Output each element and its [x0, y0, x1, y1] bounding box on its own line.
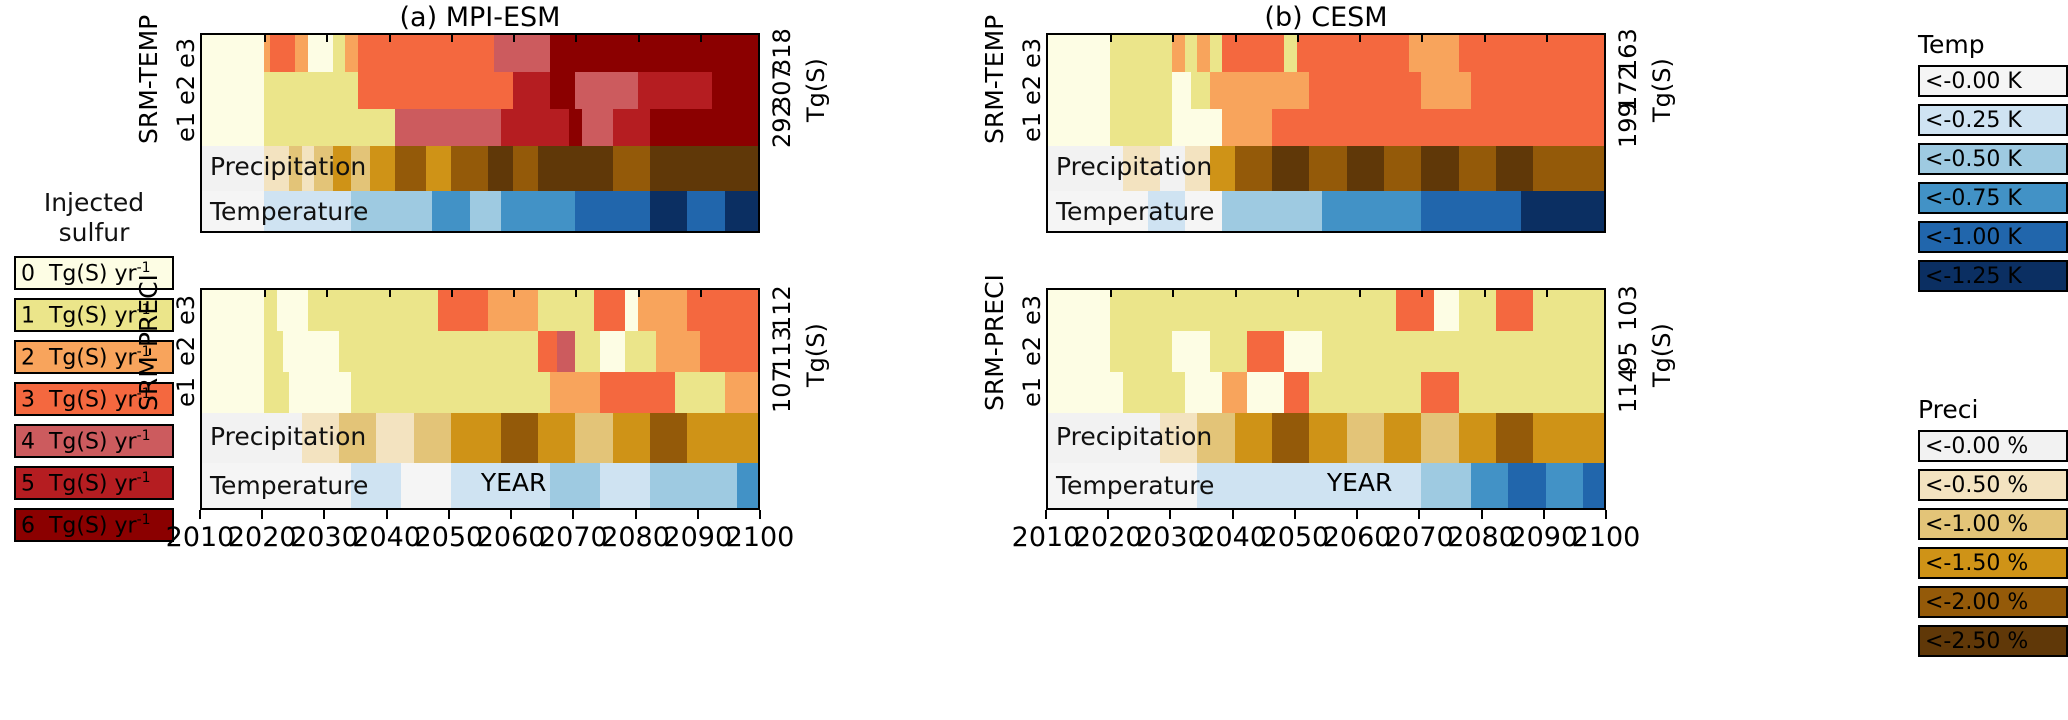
mpi-srm-temp-temp-cell [432, 191, 469, 234]
cesm-srm-temp-sulfur-cell [1048, 109, 1110, 146]
mpi-srm-temp-temp-cell [314, 191, 351, 234]
preci-swatch-5: <-2.50 % [1918, 625, 2068, 657]
cesm-srm-temp-top-tick [1172, 35, 1174, 42]
mpi-srm-temp-sulfur-row-e2 [202, 72, 758, 109]
cesm-srm-preci-precip-cell [1459, 413, 1496, 462]
mpi-srm-temp-sulfur-cell [270, 35, 295, 72]
mpi-srm-temp-sulfur-cell [264, 72, 332, 109]
mpi-x-tick-label: 2030 [290, 522, 359, 553]
mpi-srm-preci-right-unit: Tg(S) [802, 323, 830, 387]
mpi-srm-preci-sulfur-cell [600, 372, 637, 413]
mpi-srm-preci-temp-cell [401, 463, 451, 510]
mpi-srm-temp-sulfur-cell [345, 109, 395, 146]
mpi-srm-preci-precip-cell [414, 413, 451, 462]
cesm-srm-temp-sulfur-cell [1272, 109, 1334, 146]
cesm-year-inline-label: YEAR [1327, 468, 1393, 497]
mpi-srm-preci-sulfur-cell [283, 331, 339, 372]
cesm-srm-preci-temp-cell [1048, 463, 1197, 510]
cesm-srm-temp-top-tick [1484, 35, 1486, 42]
mpi-x-tick [448, 510, 450, 519]
mpi-srm-preci-temp-cell [600, 463, 650, 510]
mpi-panel-title: (a) MPI-ESM [200, 2, 760, 33]
mpi-srm-temp-sulfur-cell [550, 35, 575, 72]
mpi-srm-preci-sulfur-cell [264, 331, 283, 372]
mpi-srm-temp-temp-cell [538, 191, 575, 234]
mpi-srm-temp-sulfur-cell [358, 72, 389, 109]
cesm-x-tick [1481, 510, 1483, 519]
mpi-srm-temp-precipitation-band: Precipitation [202, 146, 758, 191]
cesm-srm-preci-top-tick [1297, 290, 1299, 297]
cesm-srm-preci-precip-cell [1197, 413, 1234, 462]
mpi-srm-temp-sulfur-cell [457, 109, 501, 146]
cesm-srm-preci-sulfur-cell [1123, 372, 1185, 413]
cesm-x-tick-label: 2050 [1261, 522, 1330, 553]
cesm-srm-temp-temp-cell [1521, 191, 1558, 234]
cesm-srm-preci-sulfur-cell [1247, 372, 1284, 413]
mpi-srm-temp-ylabel: SRM-TEMP [134, 15, 163, 144]
sulfur-swatch-label: 2 Tg(S) yr-1 [16, 344, 151, 370]
mpi-srm-temp-sulfur-cell [550, 109, 569, 146]
mpi-srm-preci-sulfur-cell [625, 290, 637, 331]
mpi-year-inline-label: YEAR [481, 468, 547, 497]
mpi-srm-temp-sulfur-cell [569, 109, 581, 146]
mpi-srm-preci-top-tick [264, 290, 266, 297]
mpi-srm-preci-sulfur-cell [538, 331, 557, 372]
mpi-srm-preci-sulfur-row-e1 [202, 372, 758, 413]
cesm-srm-temp-precip-cell [1123, 146, 1160, 191]
cesm-srm-temp-sulfur-cell [1272, 72, 1309, 109]
mpi-srm-preci-sulfur-cell [594, 290, 625, 331]
cesm-srm-temp-sulfur-cell [1297, 35, 1347, 72]
mpi-srm-preci-sulfur-row-e2 [202, 331, 758, 372]
mpi-srm-temp-sulfur-cell [600, 72, 637, 109]
cesm-srm-preci-precip-cell [1533, 413, 1570, 462]
mpi-srm-preci-sulfur-cell [675, 372, 725, 413]
cesm-srm-preci-sulfur-cell [1222, 372, 1247, 413]
cesm-srm-temp-precip-cell [1533, 146, 1570, 191]
cesm-srm-temp-precip-cell [1459, 146, 1496, 191]
mpi-x-tick [572, 510, 574, 519]
mpi-x-tick-label: 2010 [166, 522, 235, 553]
cesm-srm-preci-sulfur-cell [1459, 290, 1496, 331]
cesm-srm-temp-sulfur-cell [1471, 72, 1604, 109]
mpi-srm-preci-precip-cell [687, 413, 724, 462]
cesm-srm-temp-precip-cell [1210, 146, 1235, 191]
cesm-srm-temp-sulfur-cell [1191, 72, 1210, 109]
cesm-srm-temp-sulfur-row-e1 [1048, 109, 1604, 146]
cesm-srm-temp-temp-cell [1372, 191, 1422, 234]
cesm-srm-preci-precip-cell [1347, 413, 1384, 462]
mpi-x-tick [510, 510, 512, 519]
cesm-x-tick-label: 2090 [1509, 522, 1578, 553]
cesm-srm-preci-precipitation-band: Precipitation [1048, 413, 1604, 462]
mpi-srm-preci-ensemble-label-e3: e3 [172, 294, 200, 324]
cesm-x-tick [1418, 510, 1420, 519]
mpi-srm-temp-sulfur-cell [650, 35, 758, 72]
mpi-srm-temp-sulfur-cell [333, 72, 358, 109]
mpi-srm-preci-top-tick [575, 290, 577, 297]
cesm-srm-temp-temp-cell [1048, 191, 1148, 234]
cesm-srm-preci-temp-cell [1508, 463, 1545, 510]
mpi-srm-temp-sulfur-cell [395, 109, 457, 146]
mpi-srm-preci-top-tick [513, 290, 515, 297]
cesm-x-tick-label: 2060 [1323, 522, 1392, 553]
preci-swatch-label: <-2.50 % [1920, 629, 2028, 654]
cesm-srm-preci-sulfur-cell [1110, 331, 1172, 372]
cesm-srm-preci-precip-cell [1309, 413, 1346, 462]
cesm-srm-preci-top-tick [1484, 290, 1486, 297]
sulfur-swatch-5: 5 Tg(S) yr-1 [14, 466, 174, 500]
temp-swatch-label: <-1.25 K [1920, 264, 2022, 289]
temp-swatch-label: <-0.00 K [1920, 69, 2022, 94]
mpi-srm-preci-right-value-1: 113 [768, 326, 796, 372]
cesm-srm-temp-temp-cell [1421, 191, 1471, 234]
mpi-srm-temp-top-tick [326, 35, 328, 42]
mpi-srm-preci-sulfur-cell [308, 290, 364, 331]
sulfur-swatch-6: 6 Tg(S) yr-1 [14, 508, 174, 542]
mpi-srm-preci-sulfur-cell [575, 331, 600, 372]
cesm-srm-preci-precip-cell [1048, 413, 1160, 462]
cesm-srm-temp-top-tick [1110, 35, 1112, 42]
mpi-srm-temp-sulfur-cell [295, 35, 307, 72]
cesm-srm-temp-sulfur-cell [1048, 35, 1110, 72]
temp-swatch-list: <-0.00 K<-0.25 K<-0.50 K<-0.75 K<-1.00 K… [1918, 65, 2068, 292]
cesm-srm-temp-sulfur-cell [1172, 72, 1191, 109]
mpi-srm-temp-sulfur-cell [575, 72, 600, 109]
mpi-srm-preci-precip-cell [538, 413, 575, 462]
cesm-srm-preci-ensemble-label-e2: e2 [1018, 336, 1046, 366]
cesm-srm-preci-sulfur-cell [1210, 290, 1297, 331]
mpi-x-tick [323, 510, 325, 519]
cesm-srm-temp-sulfur-cell [1110, 109, 1172, 146]
mpi-srm-temp-sulfur-cell [395, 35, 495, 72]
mpi-srm-preci-sulfur-cell [202, 372, 264, 413]
mpi-srm-temp-sulfur-row-e3 [202, 35, 758, 72]
cesm-srm-preci-temp-cell [1421, 463, 1471, 510]
mpi-srm-preci-temp-cell [202, 463, 351, 510]
figure-canvas: Injected sulfur 0 Tg(S) yr-11 Tg(S) yr-1… [0, 0, 2068, 720]
cesm-srm-preci-sulfur-row-e3 [1048, 290, 1604, 331]
cesm-srm-temp-ensemble-label-e3: e3 [1018, 37, 1046, 67]
mpi-srm-preci-top-tick [700, 290, 702, 297]
mpi-x-tick [635, 510, 637, 519]
cesm-srm-temp-precip-cell [1235, 146, 1272, 191]
preci-swatch-label: <-0.00 % [1920, 434, 2028, 459]
cesm-srm-temp-top-tick [1421, 35, 1423, 42]
cesm-srm-temp-sulfur-cell [1459, 35, 1496, 72]
cesm-srm-temp-sulfur-cell [1496, 35, 1604, 72]
cesm-srm-temp-sulfur-cell [1110, 72, 1172, 109]
cesm-srm-preci-top-tick [1546, 290, 1548, 297]
cesm-x-tick [1356, 510, 1358, 519]
cesm-x-tick-label: 2100 [1572, 522, 1641, 553]
cesm-srm-temp-sulfur-cell [1496, 109, 1604, 146]
cesm-srm-preci-sulfur-cell [1048, 290, 1110, 331]
mpi-srm-temp-precip-cell [426, 146, 451, 191]
cesm-srm-preci-temp-cell [1235, 463, 1335, 510]
cesm-srm-preci-ensemble-label-e1: e1 [1018, 377, 1046, 407]
preci-legend-title: Preci [1918, 395, 2068, 424]
mpi-x-tick-label: 2070 [539, 522, 608, 553]
cesm-srm-preci-sulfur-cell [1110, 290, 1160, 331]
mpi-srm-temp-sulfur-cell [463, 72, 513, 109]
mpi-srm-preci-precip-cell [202, 413, 302, 462]
temp-swatch-0: <-0.00 K [1918, 65, 2068, 97]
cesm-srm-preci-sulfur-cell [1459, 372, 1604, 413]
mpi-srm-preci-top-tick [326, 290, 328, 297]
cesm-srm-temp-temp-cell [1222, 191, 1272, 234]
cesm-srm-preci-temp-cell [1546, 463, 1583, 510]
mpi-srm-preci-sulfur-cell [600, 331, 625, 372]
temp-swatch-4: <-1.00 K [1918, 221, 2068, 253]
cesm-srm-preci-sulfur-cell [1309, 372, 1421, 413]
mpi-srm-temp-precip-cell [370, 146, 395, 191]
sulfur-legend-title: Injected sulfur [14, 188, 174, 248]
sulfur-swatch-label: 4 Tg(S) yr-1 [16, 428, 151, 454]
mpi-srm-preci-temp-cell [550, 463, 600, 510]
preci-swatch-3: <-1.50 % [1918, 547, 2068, 579]
cesm-srm-temp-top-tick [1359, 35, 1361, 42]
temp-swatch-5: <-1.25 K [1918, 260, 2068, 292]
cesm-srm-temp-sulfur-cell [1309, 72, 1334, 109]
cesm-srm-temp-temp-cell [1322, 191, 1372, 234]
mpi-srm-temp-precip-cell [538, 146, 575, 191]
cesm-srm-preci-sulfur-cell [1185, 372, 1222, 413]
cesm-srm-preci-sulfur-cell [1533, 290, 1604, 331]
mpi-srm-temp-top-tick [638, 35, 640, 42]
sulfur-swatch-label: 1 Tg(S) yr-1 [16, 302, 151, 328]
mpi-srm-temp-sulfur-cell [494, 35, 525, 72]
mpi-srm-temp-top-tick [700, 35, 702, 42]
cesm-srm-preci-sulfur-cell [1048, 331, 1110, 372]
sulfur-swatch-label: 6 Tg(S) yr-1 [16, 512, 151, 538]
cesm-srm-temp-precip-cell [1496, 146, 1533, 191]
cesm-srm-preci-precip-cell [1421, 413, 1458, 462]
mpi-srm-temp-sulfur-cell [675, 72, 712, 109]
mpi-srm-temp-sulfur-cell [638, 72, 675, 109]
cesm-srm-temp-precip-cell [1421, 146, 1458, 191]
mpi-srm-temp-precip-cell [314, 146, 333, 191]
mpi-x-tick-label: 2050 [415, 522, 484, 553]
precipitation-colorbar-legend: Preci <-0.00 %<-0.50 %<-1.00 %<-1.50 %<-… [1918, 395, 2068, 664]
cesm-srm-temp-sulfur-cell [1409, 35, 1459, 72]
cesm-srm-preci-sulfur-row-e2 [1048, 331, 1604, 372]
cesm-x-tick [1294, 510, 1296, 519]
cesm-srm-temp-top-tick [1297, 35, 1299, 42]
cesm-srm-preci-sulfur-cell [1247, 331, 1284, 372]
mpi-srm-temp-temp-cell [650, 191, 687, 234]
mpi-srm-temp-temp-cell [613, 191, 650, 234]
mpi-srm-temp-precip-cell [333, 146, 352, 191]
preci-swatch-list: <-0.00 %<-0.50 %<-1.00 %<-1.50 %<-2.00 %… [1918, 430, 2068, 657]
preci-swatch-label: <-2.00 % [1920, 590, 2028, 615]
sulfur-legend-title-line2: sulfur [14, 218, 174, 248]
temp-swatch-label: <-0.50 K [1920, 147, 2022, 172]
mpi-srm-temp-temperature-band: Temperature [202, 191, 758, 234]
mpi-srm-temp-sulfur-cell [650, 109, 758, 146]
mpi-srm-preci-sulfur-cell [638, 290, 688, 331]
temp-swatch-label: <-0.25 K [1920, 108, 2022, 133]
preci-swatch-label: <-1.50 % [1920, 551, 2028, 576]
mpi-x-tick-label: 2060 [477, 522, 546, 553]
mpi-srm-preci-temp-cell [650, 463, 700, 510]
mpi-x-tick [759, 510, 761, 519]
mpi-srm-temp-sulfur-cell [308, 35, 333, 72]
cesm-x-tick [1045, 510, 1047, 519]
preci-swatch-2: <-1.00 % [1918, 508, 2068, 540]
mpi-srm-temp-ensemble-label-e2: e2 [172, 74, 200, 104]
mpi-srm-temp-sulfur-cell [575, 35, 612, 72]
cesm-srm-temp-precip-cell [1347, 146, 1384, 191]
mpi-srm-preci-top-tick [451, 290, 453, 297]
mpi-srm-temp-precip-cell [513, 146, 538, 191]
mpi-srm-preci-sulfur-cell [638, 372, 675, 413]
mpi-srm-temp-precip-cell [650, 146, 687, 191]
mpi-srm-temp-temp-cell [264, 191, 314, 234]
temperature-colorbar-legend: Temp <-0.00 K<-0.25 K<-0.50 K<-0.75 K<-1… [1918, 30, 2068, 299]
cesm-srm-temp-temp-cell [1185, 191, 1222, 234]
cesm-srm-preci-ylabel: SRM-PRECI [980, 274, 1009, 411]
mpi-srm-temp-temp-cell [351, 191, 388, 234]
cesm-srm-temp-sulfur-cell [1247, 35, 1284, 72]
mpi-srm-temp-sulfur-row-e1 [202, 109, 758, 146]
cesm-panel-title: (b) CESM [1046, 2, 1606, 33]
mpi-x-tick [386, 510, 388, 519]
cesm-srm-temp-precip-cell [1309, 146, 1346, 191]
mpi-srm-preci-sulfur-cell [557, 331, 576, 372]
mpi-srm-preci-top-tick [389, 290, 391, 297]
mpi-srm-preci-precipitation-band: Precipitation [202, 413, 758, 462]
mpi-srm-preci-precip-cell [575, 413, 612, 462]
temp-swatch-1: <-0.25 K [1918, 104, 2068, 136]
cesm-srm-preci-sulfur-cell [1421, 372, 1458, 413]
mpi-srm-preci-sulfur-cell [538, 290, 594, 331]
mpi-srm-temp-temp-cell [687, 191, 724, 234]
mpi-srm-temp-sulfur-cell [345, 35, 357, 72]
cesm-srm-preci-sulfur-cell [1396, 290, 1433, 331]
mpi-srm-preci-right-value-2: 107 [768, 367, 796, 413]
cesm-srm-temp-sulfur-cell [1210, 72, 1235, 109]
mpi-srm-temp-precip-cell [202, 146, 264, 191]
mpi-srm-preci-sulfur-cell [364, 290, 439, 331]
mpi-srm-preci-sulfur-cell [687, 290, 758, 331]
cesm-srm-temp-precip-cell [1384, 146, 1421, 191]
mpi-srm-temp-precip-cell [351, 146, 370, 191]
mpi-srm-temp-temp-cell [501, 191, 538, 234]
mpi-srm-preci-temp-cell [351, 463, 401, 510]
sulfur-legend-title-line1: Injected [14, 188, 174, 218]
mpi-srm-preci-sulfur-cell [351, 372, 550, 413]
cesm-srm-temp-sulfur-cell [1222, 109, 1272, 146]
cesm-srm-preci-temp-cell [1583, 463, 1604, 510]
cesm-srm-temp-precipitation-band: Precipitation [1048, 146, 1604, 191]
mpi-x-tick [697, 510, 699, 519]
sulfur-swatch-label: 5 Tg(S) yr-1 [16, 470, 151, 496]
cesm-srm-preci-right-value-0: 103 [1614, 285, 1642, 331]
mpi-srm-preci-ylabel: SRM-PRECI [134, 274, 163, 411]
mpi-srm-preci-sulfur-row-e3 [202, 290, 758, 331]
cesm-srm-preci-sulfur-row-e1 [1048, 372, 1604, 413]
cesm-srm-preci-precip-cell [1571, 413, 1604, 462]
mpi-srm-preci-sulfur-cell [202, 331, 264, 372]
mpi-srm-temp-sulfur-cell [613, 109, 650, 146]
mpi-srm-preci-precip-cell [376, 413, 413, 462]
mpi-srm-temp-precip-cell [451, 146, 488, 191]
mpi-srm-preci-sulfur-cell [700, 331, 758, 372]
mpi-x-tick-label: 2040 [352, 522, 421, 553]
cesm-srm-temp-sulfur-cell [1347, 35, 1409, 72]
cesm-srm-preci-temp-cell [1471, 463, 1508, 510]
cesm-srm-preci-temp-cell [1197, 463, 1234, 510]
cesm-srm-temp-sulfur-row-e3 [1048, 35, 1604, 72]
cesm-x-tick [1605, 510, 1607, 519]
mpi-srm-preci-sulfur-cell [289, 372, 351, 413]
cesm-srm-temp-sulfur-cell [1185, 35, 1197, 72]
cesm-srm-temp-sulfur-cell [1197, 35, 1209, 72]
cesm-x-tick [1169, 510, 1171, 519]
mpi-srm-temp-top-tick [389, 35, 391, 42]
mpi-x-tick-label: 2090 [663, 522, 732, 553]
mpi-srm-preci-sulfur-cell [277, 290, 308, 331]
mpi-srm-temp-top-tick [575, 35, 577, 42]
cesm-srm-temp-right-unit: Tg(S) [1648, 58, 1676, 122]
sulfur-swatch-label: 0 Tg(S) yr-1 [16, 260, 151, 286]
mpi-srm-temp-axes: PrecipitationTemperature [200, 33, 760, 233]
cesm-srm-temp-sulfur-cell [1284, 35, 1296, 72]
cesm-srm-preci-sulfur-cell [1160, 290, 1210, 331]
cesm-srm-preci-precip-cell [1272, 413, 1309, 462]
mpi-x-tick-label: 2100 [726, 522, 795, 553]
mpi-srm-temp-precip-cell [575, 146, 612, 191]
cesm-srm-temp-temperature-band: Temperature [1048, 191, 1604, 234]
mpi-srm-temp-sulfur-cell [613, 35, 650, 72]
mpi-srm-temp-top-tick [451, 35, 453, 42]
mpi-srm-temp-precip-cell [687, 146, 724, 191]
mpi-srm-temp-precip-cell [302, 146, 314, 191]
cesm-srm-preci-precip-cell [1160, 413, 1197, 462]
cesm-srm-preci-sulfur-cell [1284, 372, 1309, 413]
preci-swatch-1: <-0.50 % [1918, 469, 2068, 501]
cesm-srm-preci-right-unit: Tg(S) [1648, 323, 1676, 387]
cesm-x-tick-label: 2040 [1198, 522, 1267, 553]
cesm-srm-preci-top-tick [1172, 290, 1174, 297]
cesm-srm-preci-sulfur-cell [1172, 331, 1209, 372]
mpi-srm-temp-sulfur-cell [526, 35, 551, 72]
mpi-srm-preci-precip-cell [451, 413, 501, 462]
cesm-srm-temp-ylabel: SRM-TEMP [980, 15, 1009, 144]
mpi-srm-preci-sulfur-cell [401, 331, 538, 372]
cesm-srm-temp-sulfur-cell [1172, 109, 1222, 146]
cesm-srm-preci-sulfur-cell [1210, 331, 1247, 372]
mpi-srm-temp-sulfur-cell [202, 72, 264, 109]
mpi-srm-temp-precip-cell [289, 146, 301, 191]
cesm-srm-temp-precip-cell [1048, 146, 1123, 191]
mpi-srm-temp-right-value-2: 292 [768, 102, 796, 148]
cesm-srm-temp-top-tick [1546, 35, 1548, 42]
cesm-srm-temp-sulfur-cell [1235, 72, 1272, 109]
cesm-x-tick-label: 2020 [1074, 522, 1143, 553]
mpi-srm-temp-ensemble-label-e3: e3 [172, 37, 200, 67]
cesm-srm-preci-top-tick [1421, 290, 1423, 297]
mpi-srm-preci-ensemble-label-e2: e2 [172, 336, 200, 366]
cesm-srm-temp-precip-cell [1185, 146, 1210, 191]
mpi-srm-temp-sulfur-cell [333, 35, 345, 72]
preci-swatch-label: <-0.50 % [1920, 473, 2028, 498]
mpi-srm-temp-sulfur-cell [264, 109, 345, 146]
temp-swatch-label: <-0.75 K [1920, 186, 2022, 211]
cesm-srm-temp-temp-cell [1558, 191, 1604, 234]
mpi-srm-temp-temp-cell [389, 191, 433, 234]
